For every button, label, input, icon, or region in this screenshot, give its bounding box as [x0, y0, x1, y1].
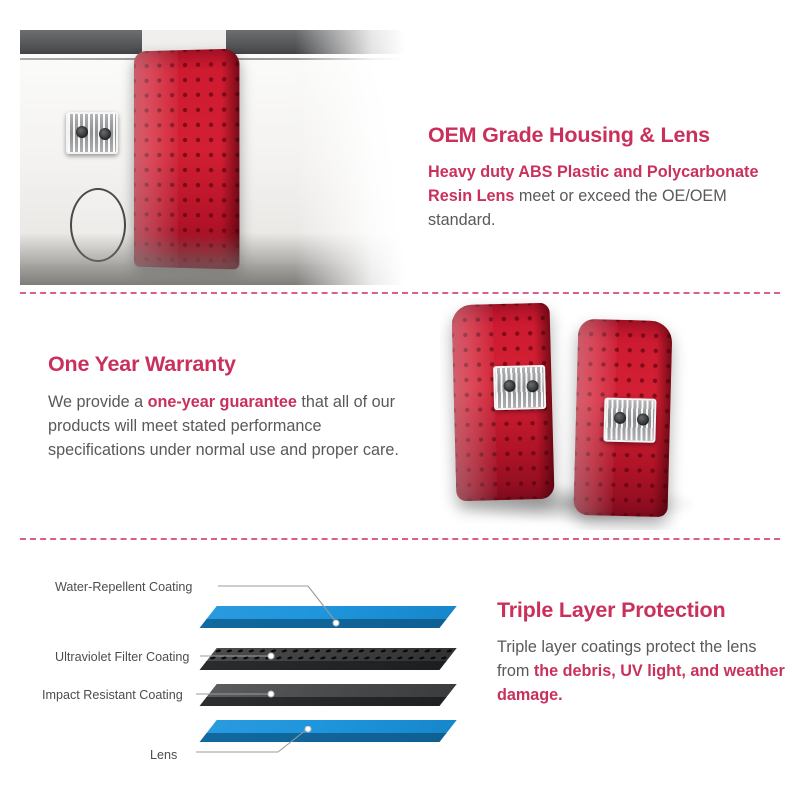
tail-light-left [451, 303, 554, 501]
section-1-headline: OEM Grade Housing & Lens [428, 123, 778, 148]
layer-side-face [200, 733, 447, 742]
layer-impact-resistant-coating [193, 684, 456, 714]
section-3-headline: Triple Layer Protection [497, 598, 787, 623]
layer-top-face [206, 684, 457, 698]
lens-gloss-highlight [451, 304, 497, 501]
tail-light-right [573, 319, 672, 517]
reverse-bulb-right [99, 128, 111, 140]
callout-label-lens: Lens [150, 748, 177, 762]
layer-top-face [206, 720, 457, 734]
layer-side-face [200, 619, 447, 628]
callout-label-water-repellent: Water-Repellent Coating [55, 580, 192, 594]
layer-top-face [206, 648, 457, 662]
section-one-year-warranty-text: One Year Warranty We provide a one-year … [48, 352, 408, 463]
tail-light-installed-photo [20, 30, 405, 285]
section-2-body-highlight: one-year guarantee [148, 393, 297, 411]
triple-layer-exploded-diagram [205, 596, 470, 746]
section-1-body: Heavy duty ABS Plastic and Polycarbonate… [428, 160, 778, 233]
layer-lens [193, 720, 456, 750]
section-divider-2 [20, 538, 780, 540]
callout-label-impact-resistant: Impact Resistant Coating [42, 688, 183, 702]
section-oem-grade-housing-text: OEM Grade Housing & Lens Heavy duty ABS … [428, 123, 778, 233]
reverse-bulb-left [76, 126, 88, 138]
section-3-body-highlight: the debris, UV light, and weather damage… [497, 662, 785, 704]
layer-ultraviolet-filter-coating [193, 648, 456, 678]
section-2-body: We provide a one-year guarantee that all… [48, 390, 408, 463]
section-divider-1 [20, 292, 780, 294]
layer-side-face [200, 661, 447, 670]
layer-top-face [206, 606, 457, 620]
section-2-body-lead: We provide a [48, 393, 148, 411]
section-3-body: Triple layer coatings protect the lens f… [497, 635, 787, 708]
tail-light-pair-photo [440, 298, 780, 530]
section-2-headline: One Year Warranty [48, 352, 408, 377]
section-triple-layer-protection-text: Triple Layer Protection Triple layer coa… [497, 598, 787, 708]
layer-water-repellent-coating [193, 606, 456, 636]
infographic-page: OEM Grade Housing & Lens Heavy duty ABS … [0, 0, 800, 800]
layer-side-face [200, 697, 447, 706]
photo-fade-edge [295, 30, 405, 285]
callout-label-ultraviolet-filter: Ultraviolet Filter Coating [55, 650, 189, 664]
